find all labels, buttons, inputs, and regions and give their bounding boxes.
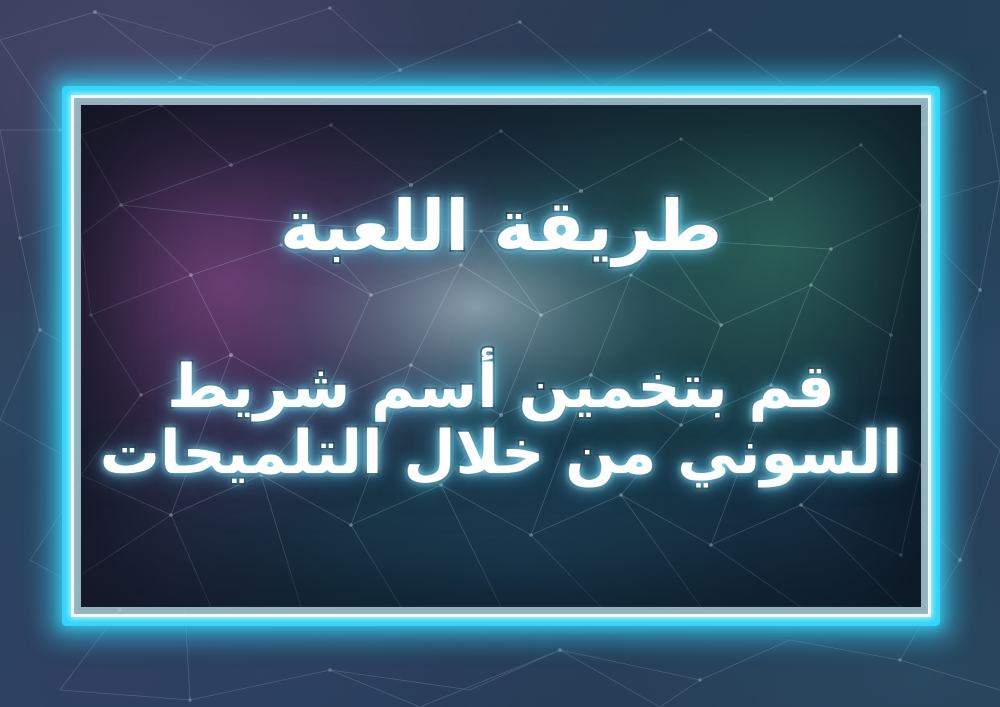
slide-content: طريقة اللعبة قم بتخمين أسم شريط السوني م… — [81, 105, 921, 607]
page-title: طريقة اللعبة — [280, 191, 722, 261]
instruction-line-2: السوني من خلال التلميحات — [100, 423, 903, 483]
inner-panel: طريقة اللعبة قم بتخمين أسم شريط السوني م… — [81, 105, 921, 607]
instruction-line-1: قم بتخمين أسم شريط — [167, 357, 835, 417]
slide-canvas: طريقة اللعبة قم بتخمين أسم شريط السوني م… — [0, 0, 1000, 707]
neon-border-frame: طريقة اللعبة قم بتخمين أسم شريط السوني م… — [62, 86, 940, 626]
